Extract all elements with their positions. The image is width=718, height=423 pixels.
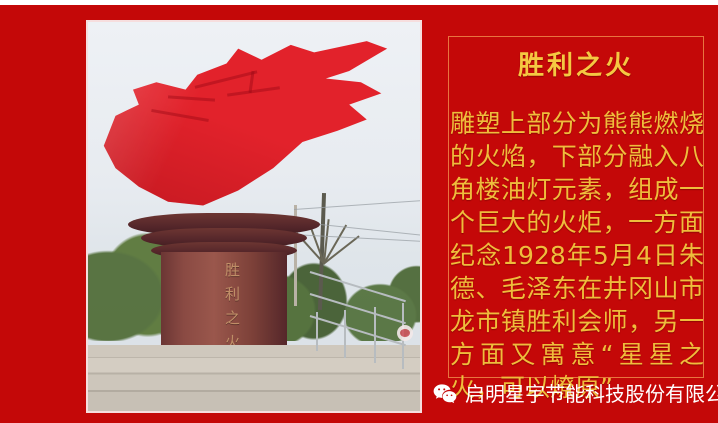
poster-root: 胜利之火 胜利之火 雕塑上部分为熊熊燃烧的火焰，下部分融入八角楼油灯元素，组成一… [0,0,718,423]
metal-railing [310,271,410,357]
description-panel: 胜利之火 雕塑上部分为熊熊燃烧的火焰，下部分融入八角楼油灯元素，组成一个巨大的火… [448,36,704,378]
photo-canvas: 胜利之火 [88,22,420,411]
wechat-account-name: 启明星宇节能科技股份有限公司 [465,381,718,407]
panel-body-text: 雕塑上部分为熊熊燃烧的火焰，下部分融入八角楼油灯元素，组成一个巨大的火炬，一方面… [450,107,704,404]
wechat-icon [432,381,458,407]
pedestal-inscription: 胜利之火 [222,262,243,358]
panel-title: 胜利之火 [449,45,703,82]
sculpture-photo: 胜利之火 [86,20,422,413]
wechat-account-footer: 启明星宇节能科技股份有限公司 [432,381,718,407]
